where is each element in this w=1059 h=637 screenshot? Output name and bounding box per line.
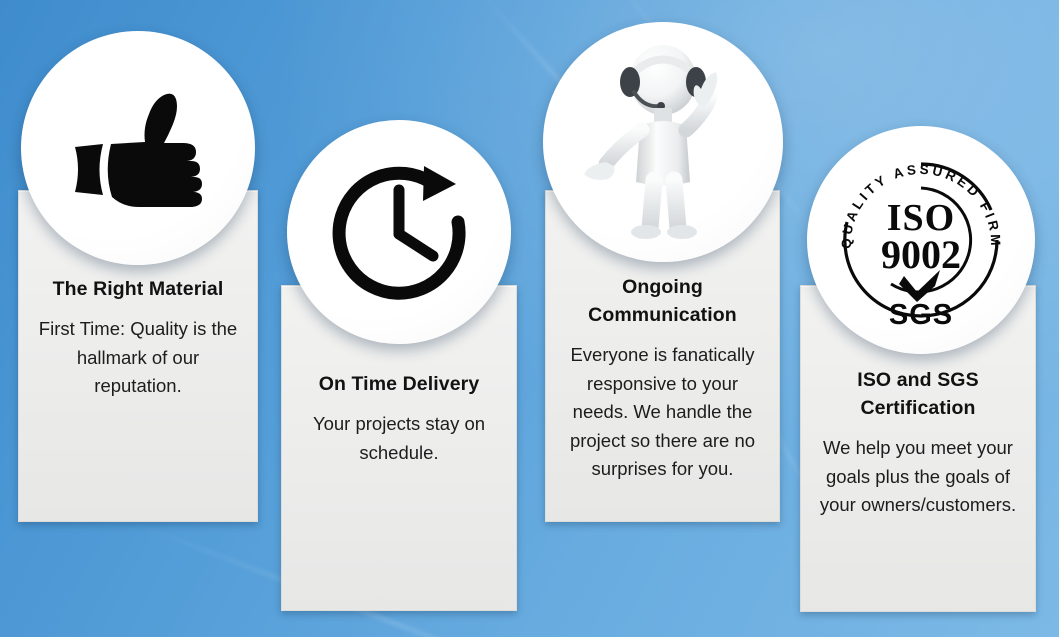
icon-circle-iso-certification: QUALITY ASSURED FIRM ISO 9002 SGS [807,126,1035,354]
card-title: The Right Material [31,275,245,303]
icon-circle-ongoing-communication [543,22,783,262]
card-body-text: First Time: Quality is the hallmark of o… [31,315,245,401]
icon-circle-thumbs-up [21,31,255,265]
seal-line-sgs: SGS [889,299,953,328]
icon-circle-on-time-delivery [287,120,511,344]
card-title: ISO and SGS Certification [813,366,1023,422]
card-body-text: We help you meet your goals plus the goa… [813,434,1023,520]
thumbs-up-icon [63,73,213,223]
card-body-text: Everyone is fanatically responsive to yo… [558,341,767,484]
card-body-text: Your projects stay on schedule. [294,410,504,467]
headset-person-icon [568,42,758,242]
infographic-canvas: The Right Material First Time: Quality i… [0,0,1059,637]
card-title: Ongoing Communication [558,273,767,329]
card-title: On Time Delivery [294,370,504,398]
iso-9002-seal-icon: QUALITY ASSURED FIRM ISO 9002 SGS [833,152,1009,328]
clock-arrow-icon [323,156,475,308]
seal-line-9002: 9002 [881,232,961,277]
